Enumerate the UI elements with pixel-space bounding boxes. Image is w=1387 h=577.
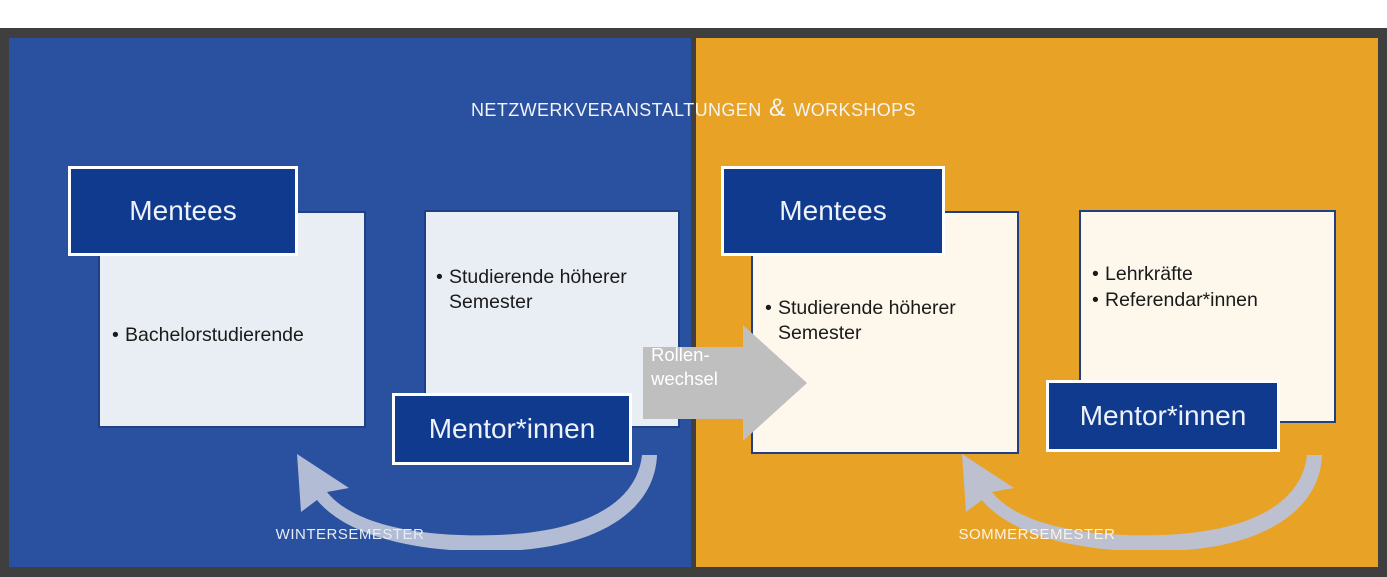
winter-mentors-heading: Mentor*innen [429,415,596,443]
winter-mentees-bullet-1: Bachelorstudierende [125,323,352,348]
list-item: • Referendar*innen [1092,288,1337,313]
role-switch-label-line1: Rollen- [651,343,743,367]
summer-mentors-bullet-2: Referendar*innen [1105,288,1337,313]
bullet-dot-icon: • [436,265,449,290]
bullet-dot-icon: • [112,323,125,348]
list-item: • Studierende höherer Semester [436,265,676,316]
winter-semester-label: Wintersemester [9,519,691,545]
summer-mentors-bullet-1: Lehrkräfte [1105,262,1337,287]
summer-mentees-bullet-1: Studierende höherer Semester [778,296,1010,347]
summer-mentees-heading-chip: Mentees [721,166,945,256]
list-item: • Bachelorstudierende [112,323,352,348]
winter-mentees-bullet-list: • Bachelorstudierende [112,323,352,349]
bullet-dot-icon: • [765,296,778,321]
winter-mentors-bullet-1: Studierende höherer Semester [449,265,676,316]
figure-canvas: Wintersemester • Bachelorstudierende Men… [0,0,1387,577]
winter-mentors-heading-chip: Mentor*innen [392,393,632,465]
winter-mentees-heading-chip: Mentees [68,166,298,256]
winter-mentees-heading: Mentees [129,197,236,225]
bullet-dot-icon: • [1092,288,1105,313]
summer-mentees-heading: Mentees [779,197,886,225]
role-switch-label-line2: wechsel [651,367,743,391]
winter-mentors-bullet-list: • Studierende höherer Semester [436,265,676,317]
figure-frame: Wintersemester • Bachelorstudierende Men… [0,28,1387,577]
figure-banner-title: Netzwerkveranstaltungen & Workshops [0,94,1387,123]
summer-mentors-heading-chip: Mentor*innen [1046,380,1280,452]
role-switch-label: Rollen- wechsel [651,343,743,390]
summer-mentors-heading: Mentor*innen [1080,402,1247,430]
summer-mentors-bullet-list: • Lehrkräfte • Referendar*innen [1092,262,1337,315]
winter-mentees-group: • Bachelorstudierende Mentees [68,166,368,428]
summer-mentors-group: • Lehrkräfte • Referendar*innen Mentor*i… [1046,210,1351,468]
list-item: • Lehrkräfte [1092,262,1337,287]
bullet-dot-icon: • [1092,262,1105,287]
summer-semester-label: Sommersemester [696,519,1378,545]
